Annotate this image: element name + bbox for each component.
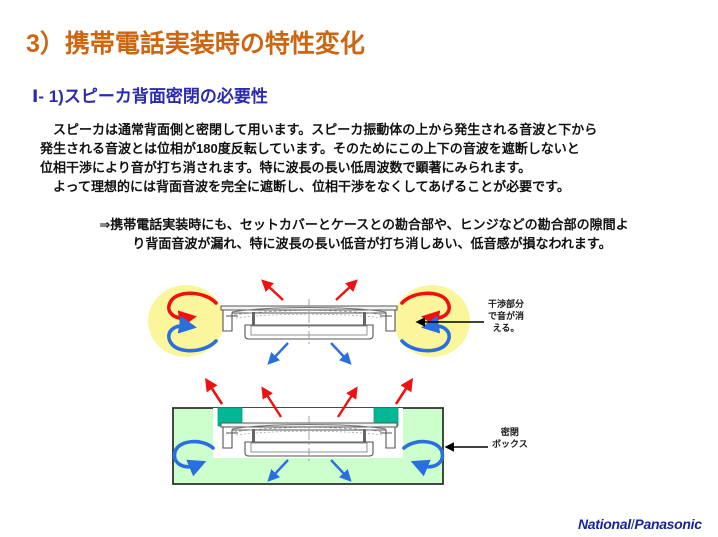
callout-interference-line-1: 干渉部分 xyxy=(488,298,524,310)
callout-interference-line-3: える。 xyxy=(488,322,524,334)
brand-logo-panasonic: Panasonic xyxy=(634,516,701,532)
brand-logo-national: National xyxy=(578,516,631,532)
callout-sealed-box-line-1: 密閉 xyxy=(492,426,528,438)
callout-sealed-box-line-2: ボックス xyxy=(492,438,528,450)
sealed-box-speaker-diagram xyxy=(0,0,718,537)
callout-interference-line-2: で音が消 xyxy=(488,310,524,322)
callout-sealed-box: 密閉 ボックス xyxy=(492,426,528,450)
brand-logo: National/Panasonic xyxy=(578,516,702,532)
callout-interference: 干渉部分 で音が消 える。 xyxy=(488,298,524,334)
slide-canvas: 3）携帯電話実装時の特性変化 Ⅰ- 1)スピーカ背面密閉の必要性 スピーカは通常… xyxy=(0,0,718,537)
